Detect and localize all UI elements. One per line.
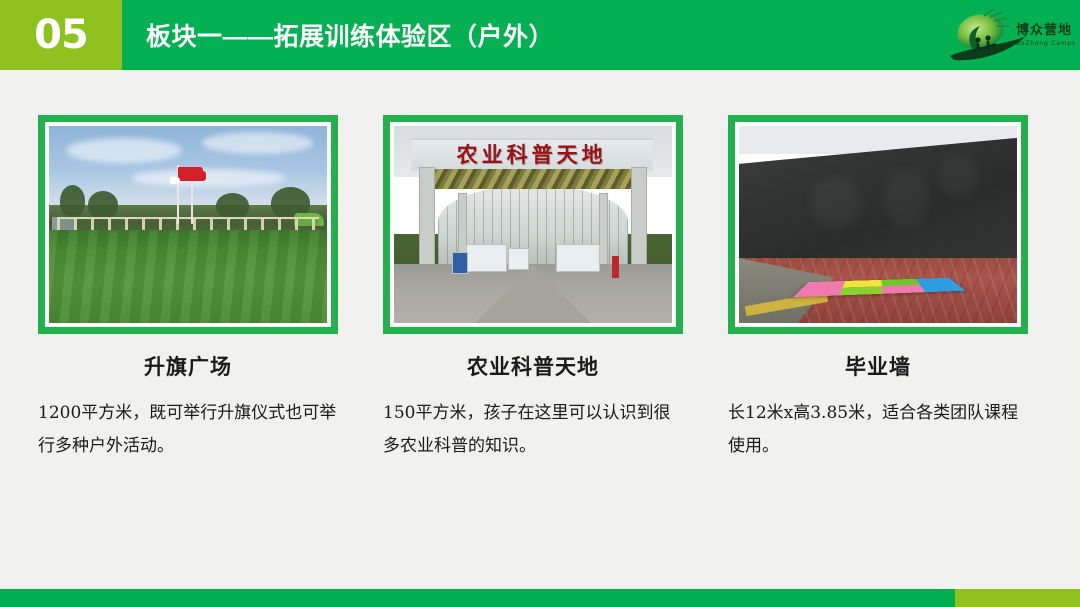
caption-3: 毕业墙 长12米x高3.85米，适合各类团队课程使用。 [728,334,1028,463]
logo-icon: 博众营地 BoZhong Campsit [944,6,1076,64]
caption-body-1: 1200平方米，既可举行升旗仪式也可举行多种户外活动。 [38,397,338,463]
brand-logo: 博众营地 BoZhong Campsit [940,0,1080,70]
photo-sign-2: 农业科普天地 [411,138,653,172]
slide-header: 05 板块一——拓展训练体验区（户外） [0,0,1080,70]
photo-flag-plaza [49,126,327,323]
card-flag-plaza: 升旗广场 1200平方米，既可举行升旗仪式也可举行多种户外活动。 [38,115,338,463]
svg-text:博众营地: 博众营地 [1016,22,1072,38]
caption-title-3: 毕业墙 [728,351,1028,381]
slide-number-block: 05 [0,0,122,70]
photo-frame-2: 农业科普天地 [383,115,683,334]
page-title: 板块一——拓展训练体验区（户外） [146,17,554,53]
slide-footer [0,589,1080,607]
photo-frame-1 [38,115,338,334]
card-graduation-wall: 毕业墙 长12米x高3.85米，适合各类团队课程使用。 [728,115,1028,463]
caption-2: 农业科普天地 150平方米，孩子在这里可以认识到很多农业科普的知识。 [383,334,683,463]
slide-title-container: 板块一——拓展训练体验区（户外） [122,0,940,70]
photo-frame-3 [728,115,1028,334]
caption-title-1: 升旗广场 [38,351,338,381]
footer-accent-bar [955,589,1080,607]
card-agri-science: 农业科普天地 农业科普天地 150平方米，孩子在这里可以认识到很多农业科普的知识… [383,115,683,463]
photo-graduation-wall [739,126,1017,323]
slide-number: 05 [34,15,88,55]
caption-title-2: 农业科普天地 [383,351,683,381]
footer-main-bar [0,589,955,607]
caption-1: 升旗广场 1200平方米，既可举行升旗仪式也可举行多种户外活动。 [38,334,338,463]
photo-agri-science: 农业科普天地 [394,126,672,323]
svg-text:BoZhong Campsit: BoZhong Campsit [1016,40,1076,47]
card-row: 升旗广场 1200平方米，既可举行升旗仪式也可举行多种户外活动。 农业科普天地 [0,115,1080,463]
photo-sign-text-2: 农业科普天地 [457,145,607,166]
caption-body-3: 长12米x高3.85米，适合各类团队课程使用。 [728,397,1028,463]
caption-body-2: 150平方米，孩子在这里可以认识到很多农业科普的知识。 [383,397,683,463]
